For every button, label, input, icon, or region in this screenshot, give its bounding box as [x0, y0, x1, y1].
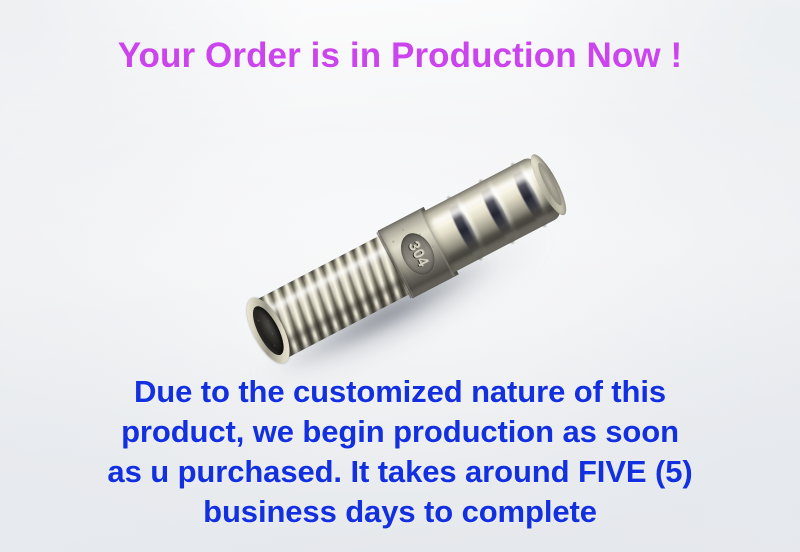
- headline-text: Your Order is in Production Now !: [0, 36, 800, 76]
- grade-stamp-value: 304: [404, 238, 431, 269]
- body-copy-line-3: as u purchased. It takes around FIVE (5): [0, 452, 800, 492]
- body-copy-block: Due to the customized nature of this pro…: [0, 372, 800, 532]
- promo-banner: Your Order is in Production Now ! 304: [0, 0, 800, 552]
- body-copy-line-2: product, we begin production as soon: [0, 412, 800, 452]
- body-copy-line-4: business days to complete: [0, 492, 800, 532]
- body-copy-line-1: Due to the customized nature of this: [0, 372, 800, 412]
- product-photo: 304: [214, 146, 606, 368]
